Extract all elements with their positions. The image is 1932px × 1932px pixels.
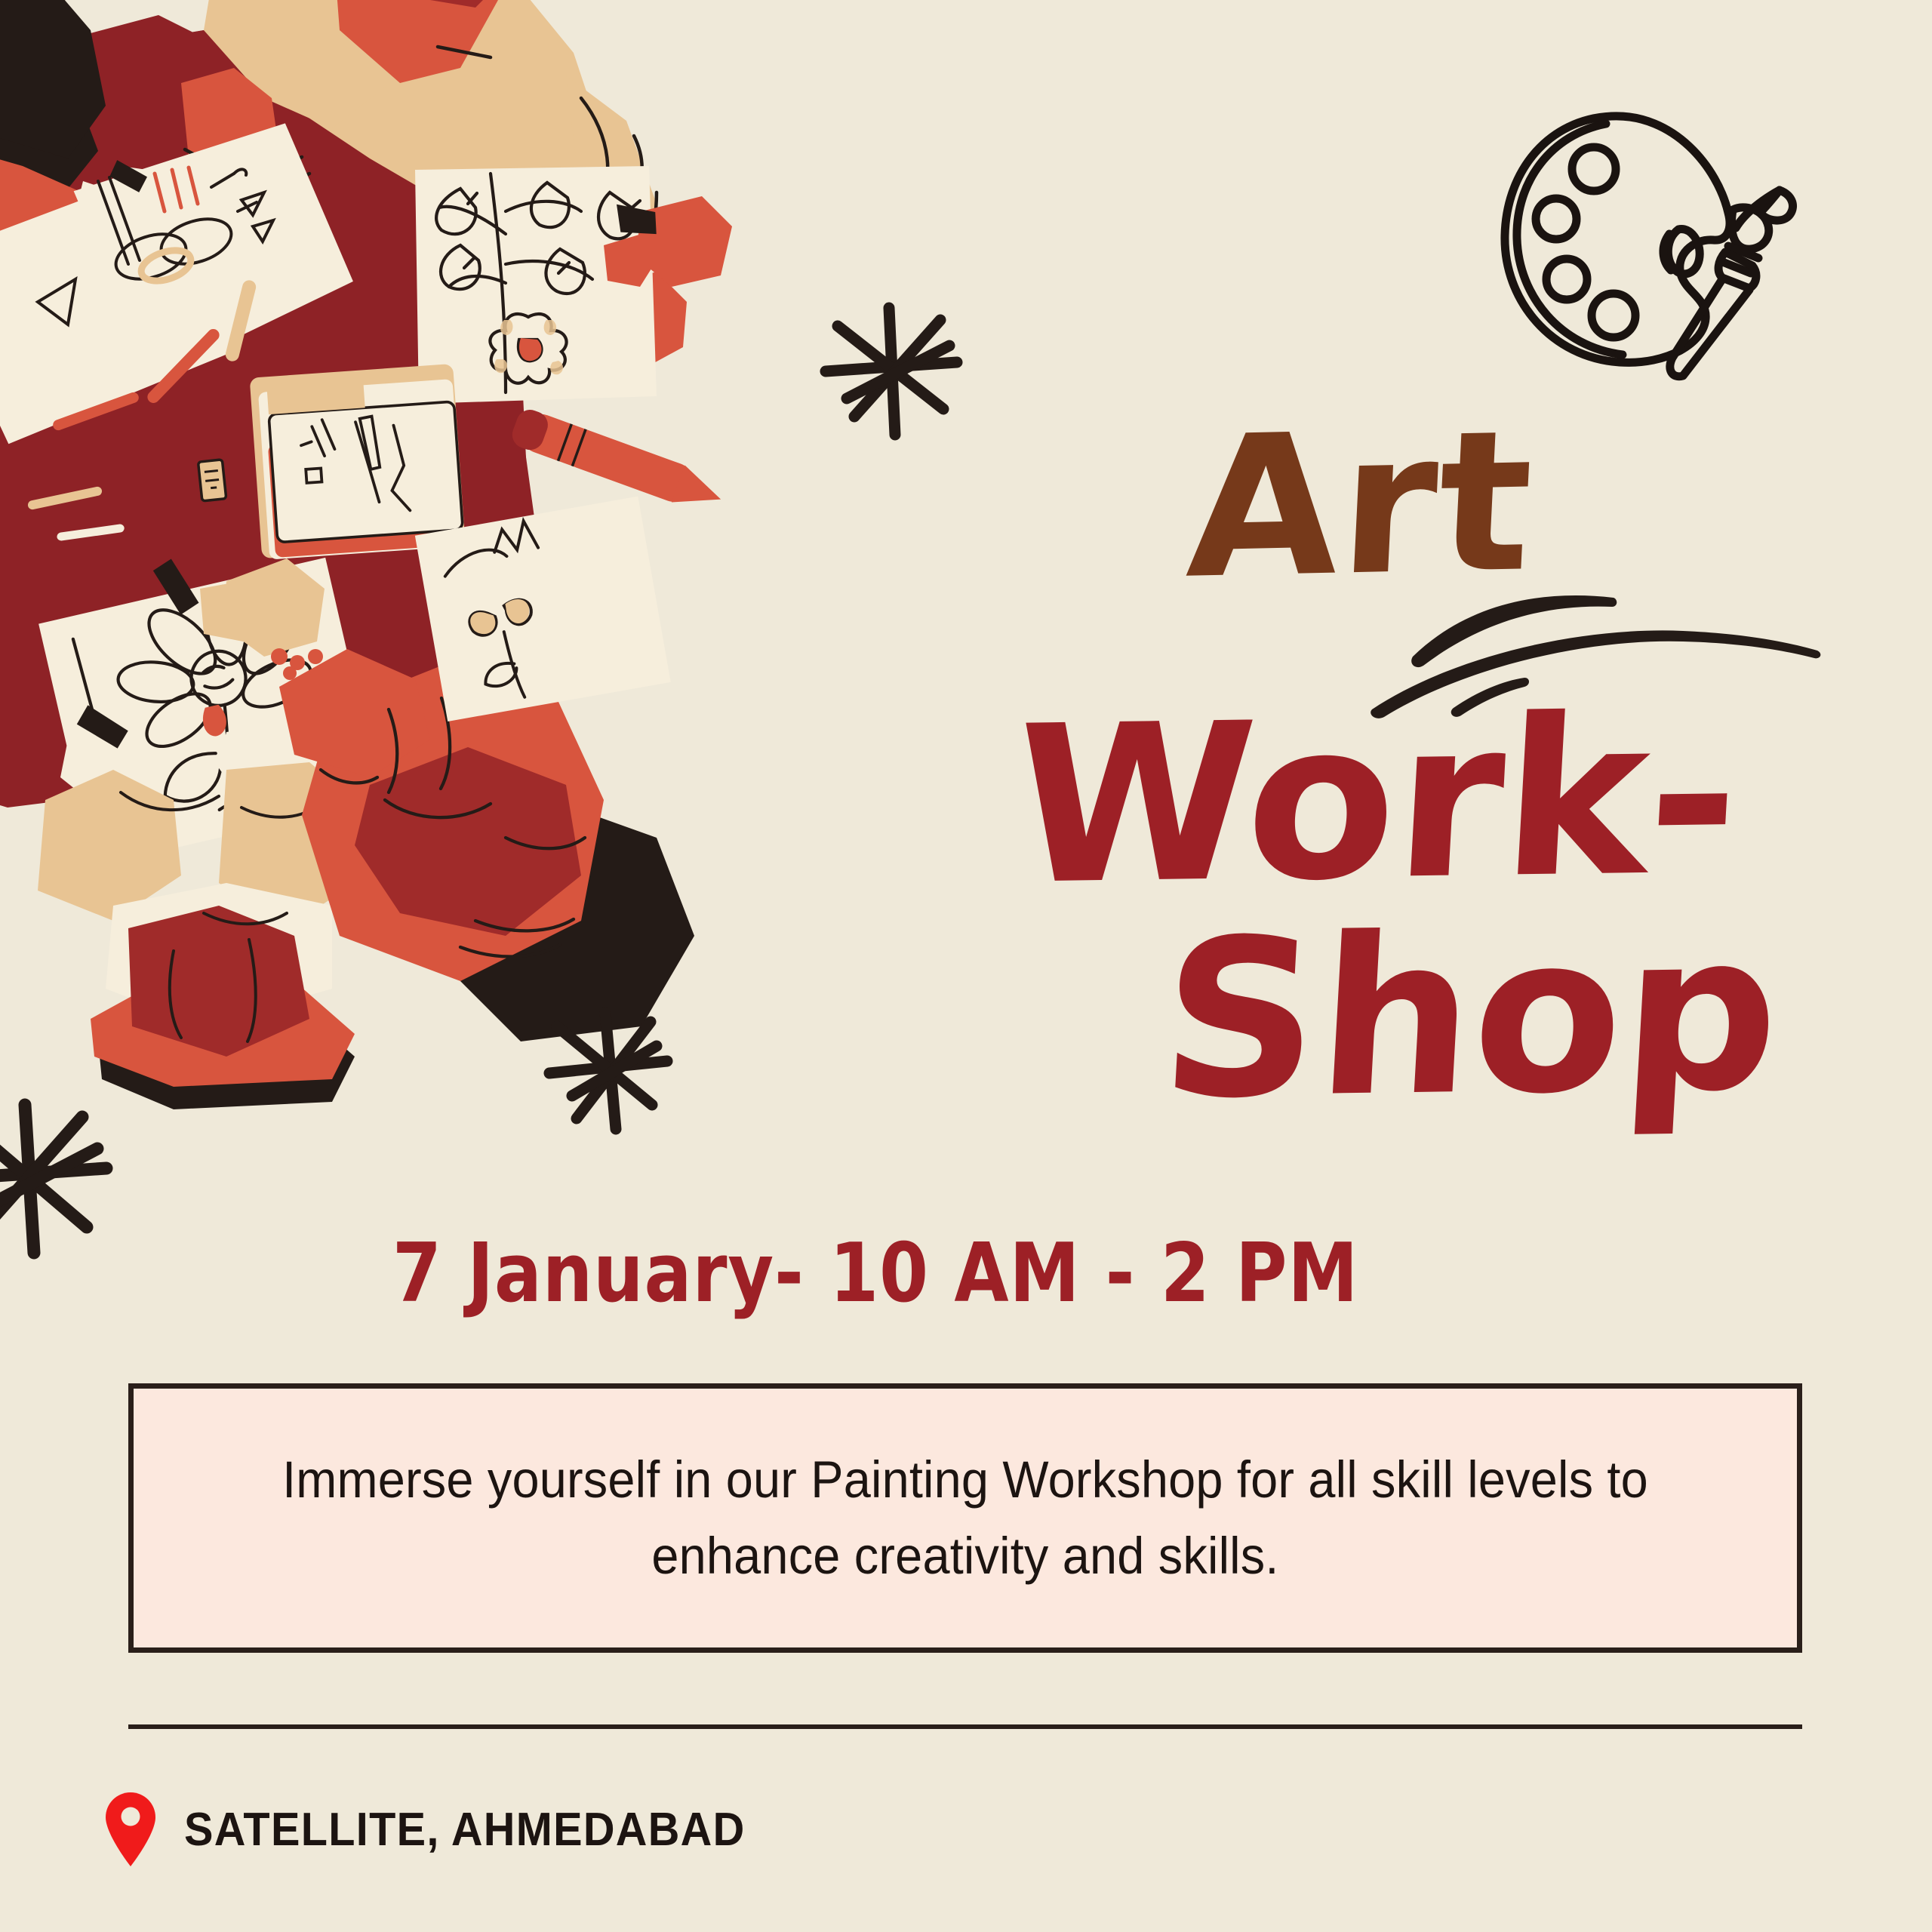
footer-location: SATELLITE, AHMEDABAD xyxy=(106,1792,788,1866)
paint-palette-and-brush-icon xyxy=(1479,98,1841,392)
event-datetime: 7 January- 10 AM - 2 PM xyxy=(392,1226,1358,1321)
page-title-line-shop: Shop xyxy=(1156,912,1784,1121)
page-title-line-work: Work- xyxy=(1009,697,1744,906)
sparkle-star-icon xyxy=(513,981,709,1177)
top-view-people-painting-at-table-illustration xyxy=(0,0,958,1207)
description-text: Immerse yourself in our Painting Worksho… xyxy=(183,1442,1747,1593)
poster-canvas: Art Work- Shop 7 January- 10 AM - 2 PM I… xyxy=(0,0,1932,1932)
description-box: Immerse yourself in our Painting Worksho… xyxy=(128,1383,1802,1653)
sparkle-star-icon xyxy=(0,1079,140,1291)
location-label: SATELLITE, AHMEDABAD xyxy=(184,1803,746,1857)
location-pin-icon xyxy=(106,1792,155,1866)
sparkle-star-icon xyxy=(800,287,996,483)
page-title-line-art: Art xyxy=(1183,404,1537,605)
footer-divider xyxy=(128,1724,1802,1729)
